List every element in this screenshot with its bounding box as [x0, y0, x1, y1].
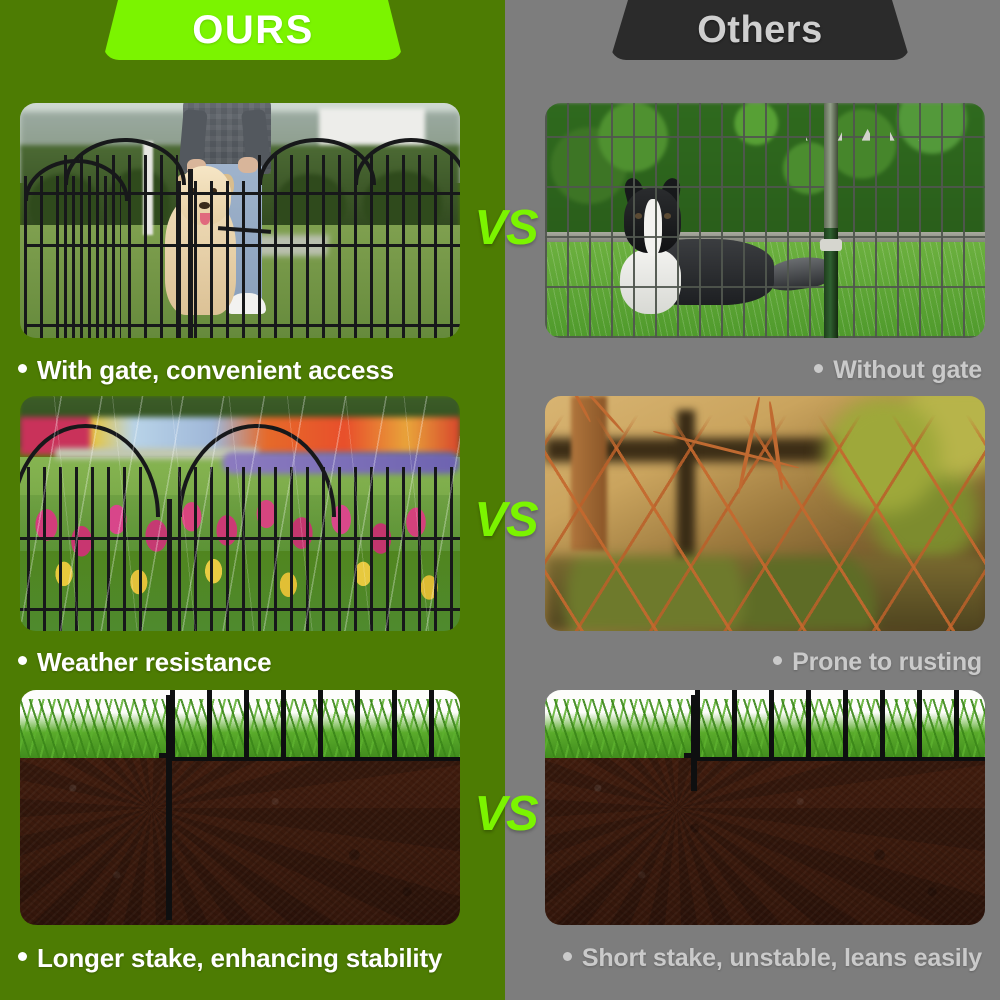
ours-caption-row-2: Weather resistance: [18, 642, 498, 682]
others-banner-label: Others: [697, 9, 822, 52]
ours-caption-row-3: Longer stake, enhancing stability: [18, 938, 498, 978]
ours-caption-row-2-text: Weather resistance: [37, 647, 271, 678]
bullet-icon: [18, 656, 27, 665]
comparison-infographic: OURS Others: [0, 0, 1000, 1000]
others-caption-row-3-text: Short stake, unstable, leans easily: [582, 944, 982, 973]
others-caption-row-3: Short stake, unstable, leans easily: [520, 938, 982, 978]
ours-caption-row-3-text: Longer stake, enhancing stability: [37, 943, 442, 974]
others-caption-row-2: Prone to rusting: [520, 642, 982, 682]
weather-resistant-fence-flowers-photo: [20, 396, 460, 631]
bullet-icon: [773, 656, 782, 665]
long-stake-soil-cross-section-photo: [20, 690, 460, 925]
short-stake-soil-cross-section-photo: [545, 690, 985, 925]
rusted-chain-link-fence-photo: [545, 396, 985, 631]
others-caption-row-2-text: Prone to rusting: [792, 648, 982, 677]
vs-badge-row-3: VS: [468, 786, 544, 842]
vs-badge-row-2: VS: [468, 492, 544, 548]
bullet-icon: [18, 364, 27, 373]
ours-banner: OURS: [103, 0, 403, 60]
ours-caption-row-1-text: With gate, convenient access: [37, 355, 394, 386]
others-banner: Others: [610, 0, 910, 60]
others-caption-row-1: Without gate: [520, 350, 982, 390]
vs-badge-row-1: VS: [468, 200, 544, 256]
no-gate-wire-mesh-fence-photo: [545, 103, 985, 338]
others-caption-row-1-text: Without gate: [833, 356, 982, 385]
bullet-icon: [563, 952, 572, 961]
ours-banner-label: OURS: [192, 8, 314, 53]
bullet-icon: [814, 364, 823, 373]
gate-with-golden-retriever-photo: [20, 103, 460, 338]
ours-caption-row-1: With gate, convenient access: [18, 350, 498, 390]
bullet-icon: [18, 952, 27, 961]
